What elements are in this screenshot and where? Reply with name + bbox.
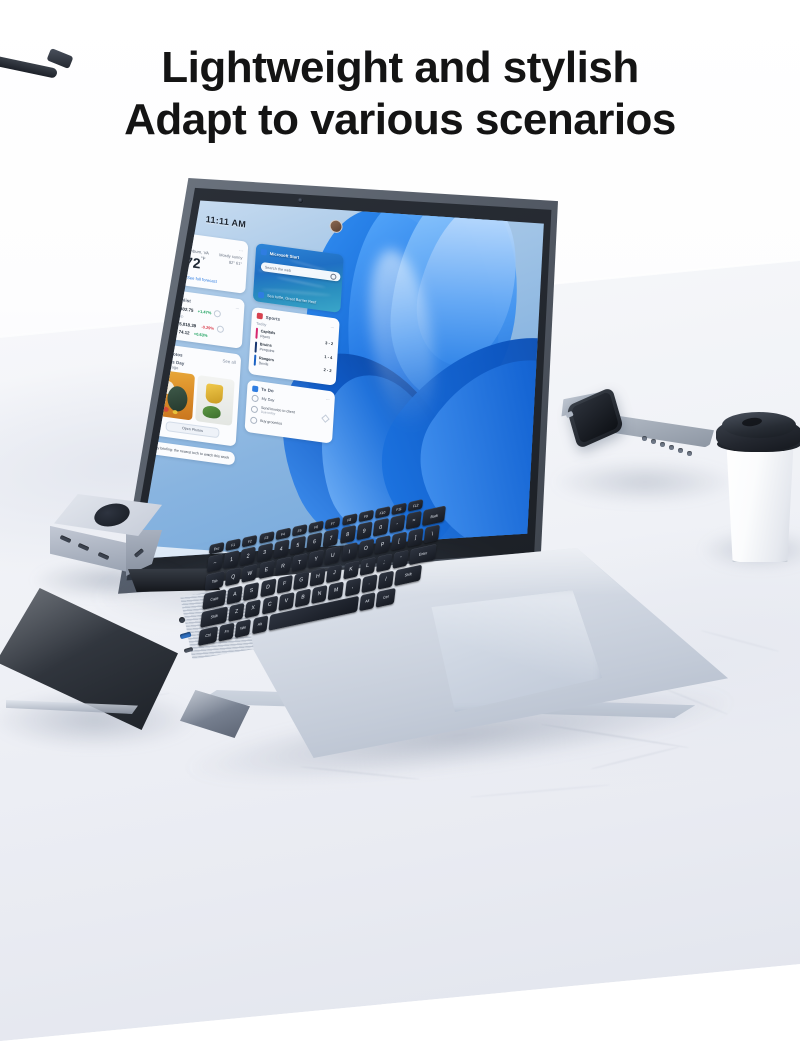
sports-widget[interactable]: Sports ... Today Capitals Flyers 3 - 2 — [248, 307, 340, 385]
watch-band-hole — [687, 451, 692, 456]
key[interactable]: F9 — [358, 510, 374, 523]
key-alt-right[interactable]: Alt — [359, 592, 375, 611]
clock: 11:11 AM — [205, 214, 246, 230]
key[interactable]: 2 — [240, 547, 256, 566]
photo-thumbnail[interactable] — [195, 375, 235, 426]
watch-band-hole — [678, 448, 683, 453]
weather-icon — [165, 236, 171, 243]
todo-title: To Do — [261, 387, 274, 394]
key[interactable]: F6 — [308, 520, 324, 533]
key-ctrl-left[interactable]: Ctrl — [198, 626, 218, 646]
team-color-bar — [255, 341, 257, 352]
key[interactable]: F3 — [259, 531, 275, 544]
key[interactable]: I — [341, 543, 357, 562]
coffee-cup — [716, 396, 800, 562]
key[interactable]: R — [275, 557, 291, 576]
stock-value: 74.12 — [178, 329, 189, 335]
news-headline: Daily briefing: the newest tech to watch… — [151, 446, 231, 462]
key[interactable]: J — [326, 564, 342, 583]
photos-see-all-button[interactable]: See all — [222, 358, 236, 365]
key[interactable]: 7 — [323, 529, 339, 548]
key-ctrl-right[interactable]: Ctrl — [376, 588, 396, 608]
todo-icon — [252, 385, 258, 392]
key[interactable]: 9 — [356, 522, 372, 541]
sports-icon — [257, 313, 263, 320]
key[interactable]: . — [361, 574, 377, 593]
key[interactable]: / — [378, 570, 394, 589]
stock-menu-icon[interactable] — [217, 326, 224, 334]
key[interactable]: ; — [376, 553, 392, 572]
key-fn[interactable]: Fn — [218, 622, 234, 641]
key[interactable]: A — [227, 585, 243, 604]
search-widget[interactable]: Microsoft Start Search the web Sea turtl… — [253, 243, 344, 313]
key[interactable]: G — [293, 571, 309, 590]
coffee-cup-lid-top — [722, 412, 796, 438]
key[interactable]: L — [359, 556, 375, 575]
open-photos-button[interactable]: Open Photos — [165, 421, 219, 438]
key[interactable]: S — [243, 582, 259, 601]
stock-change: -0.29% — [199, 324, 214, 331]
key[interactable]: B — [295, 588, 311, 607]
team-b: Flyers — [260, 334, 270, 339]
key[interactable]: F10 — [375, 506, 391, 519]
key[interactable]: X — [245, 599, 261, 618]
key-tab[interactable]: Tab — [204, 571, 224, 591]
sports-title: Sports — [266, 314, 281, 321]
key[interactable]: M — [328, 581, 344, 600]
watch-band-hole — [651, 439, 656, 444]
weather-unit: °F — [201, 256, 206, 262]
key[interactable]: 4 — [273, 539, 289, 558]
key[interactable]: P — [374, 535, 390, 554]
search-widget-header: Microsoft Start — [261, 249, 300, 260]
stock-change: +1.47% — [196, 308, 211, 315]
key[interactable]: 0 — [373, 518, 389, 537]
key[interactable]: D — [260, 578, 276, 597]
windows-key-icon[interactable]: Win — [235, 619, 251, 638]
headline-line-1: Lightweight and stylish — [161, 43, 638, 92]
sports-score: 3 - 2 — [325, 340, 333, 346]
key[interactable]: K — [343, 560, 359, 579]
key[interactable]: ] — [407, 528, 423, 547]
key[interactable]: O — [358, 539, 374, 558]
key[interactable]: ~ — [207, 554, 223, 573]
star-icon[interactable] — [321, 414, 329, 422]
key[interactable]: H — [310, 567, 326, 586]
key[interactable]: 8 — [339, 525, 355, 544]
search-input[interactable]: Search the web — [261, 262, 341, 282]
todo-list-name: My Day — [261, 397, 274, 403]
key[interactable]: F1 — [225, 538, 241, 551]
key[interactable]: F2 — [242, 535, 258, 548]
key[interactable]: U — [324, 546, 340, 565]
key[interactable]: Q — [225, 568, 241, 587]
search-caption-text: Sea turtle, Great Barrier Reef — [267, 294, 316, 305]
coffee-cup-body — [724, 438, 796, 562]
open-photos-label: Open Photos — [182, 427, 203, 434]
image-info-icon — [258, 292, 264, 299]
key[interactable]: Y — [308, 550, 324, 569]
key[interactable]: = — [406, 511, 422, 530]
key[interactable]: ' — [392, 549, 408, 568]
watchlist-more-button[interactable]: ... — [236, 304, 240, 309]
search-placeholder: Search the web — [265, 265, 291, 273]
checkbox-icon[interactable] — [251, 405, 258, 413]
team-color-bar — [255, 328, 257, 339]
watch-band-hole — [660, 442, 665, 447]
key[interactable]: F4 — [275, 528, 291, 541]
key[interactable]: 3 — [256, 543, 272, 562]
key[interactable]: 5 — [290, 536, 306, 555]
widgets-column-right: Microsoft Start Search the web Sea turtl… — [244, 243, 344, 449]
stock-value: 5,018.39 — [179, 321, 196, 328]
key[interactable]: T — [291, 553, 307, 572]
team-color-bar — [254, 355, 256, 366]
key[interactable]: F5 — [292, 524, 308, 537]
key[interactable]: F12 — [408, 499, 424, 512]
watch-band-hole — [669, 445, 674, 450]
watch-band-hole — [642, 436, 647, 441]
microsoft-start-icon — [261, 249, 267, 256]
stock-menu-icon[interactable] — [214, 310, 221, 318]
key[interactable]: F11 — [391, 503, 407, 516]
checkbox-icon[interactable] — [250, 416, 257, 424]
key[interactable]: , — [344, 577, 360, 596]
stock-change: +0.63% — [192, 331, 207, 338]
key[interactable]: V — [278, 592, 294, 611]
search-widget-title: Microsoft Start — [270, 250, 300, 259]
key[interactable]: F7 — [325, 517, 341, 530]
team-b: Devils — [259, 361, 269, 366]
watchlist-icon — [162, 294, 168, 301]
key[interactable]: F — [276, 574, 292, 593]
key[interactable]: Esc — [209, 542, 225, 555]
key[interactable]: N — [311, 585, 327, 604]
key[interactable]: 1 — [223, 550, 239, 569]
key[interactable]: Z — [228, 603, 244, 622]
key[interactable]: 6 — [306, 532, 322, 551]
sports-score: 1 - 4 — [324, 354, 332, 360]
search-icon[interactable] — [330, 273, 336, 280]
key[interactable]: \ — [424, 525, 440, 544]
key[interactable]: E — [258, 560, 274, 579]
key[interactable]: [ — [391, 532, 407, 551]
key[interactable]: C — [261, 595, 277, 614]
sports-score: 2 - 2 — [323, 367, 331, 373]
todo-more-button[interactable]: ... — [326, 396, 330, 401]
stock-value: 402.75 — [180, 306, 194, 313]
key[interactable]: - — [389, 514, 405, 533]
key-alt-left[interactable]: Alt — [252, 615, 268, 634]
key[interactable]: F8 — [342, 513, 358, 526]
key[interactable]: W — [242, 564, 258, 583]
sports-more-button[interactable]: ... — [330, 323, 334, 328]
page-title: Lightweight and stylish Adapt to various… — [0, 42, 800, 146]
list-icon — [251, 394, 258, 402]
todo-widget[interactable]: To Do ... My Day Send invoice to client … — [245, 379, 336, 443]
team-b: Penguins — [259, 347, 274, 353]
headline-line-2: Adapt to various scenarios — [0, 94, 800, 146]
weather-more-button[interactable]: ... — [239, 246, 243, 251]
